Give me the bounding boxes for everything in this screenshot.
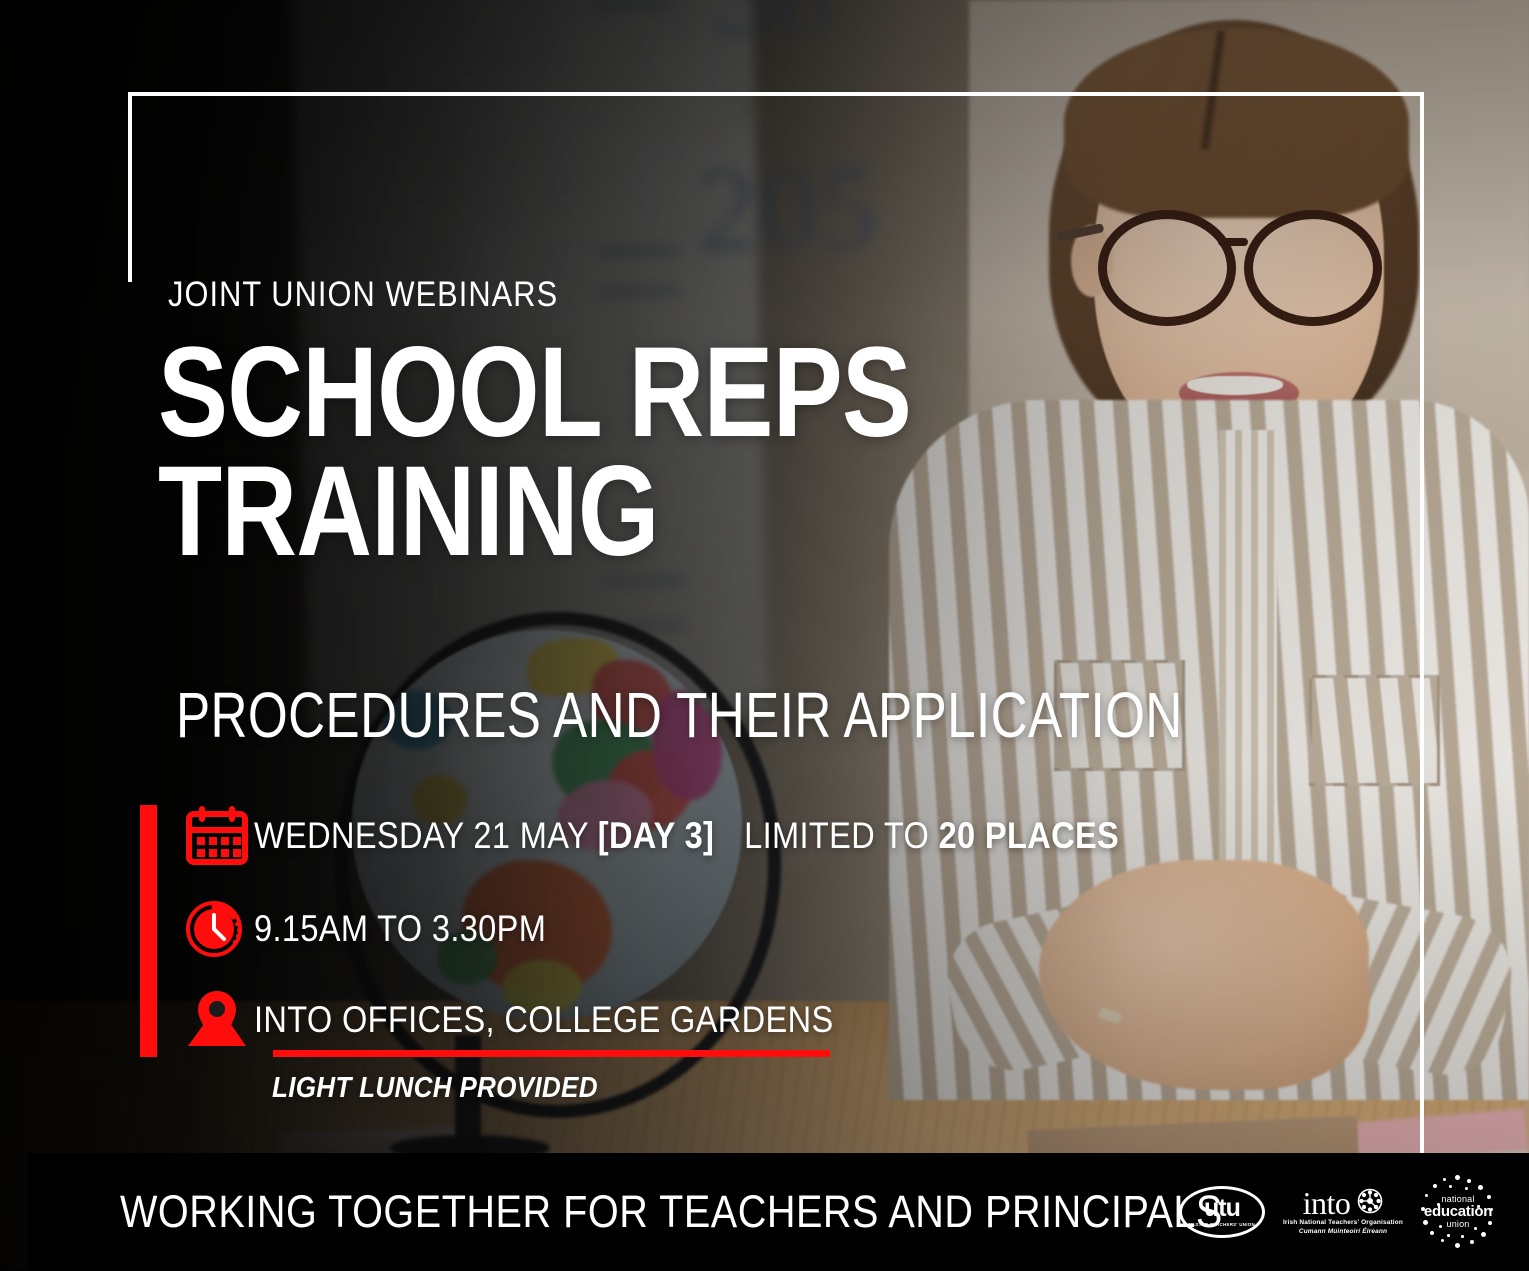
into-subtitle-irish: Cumann Múinteoirí Éireann [1299, 1228, 1387, 1237]
poster-canvas: 38 × 205 [0, 0, 1529, 1271]
calendar-icon [180, 806, 254, 866]
location-text: INTO OFFICES, COLLEGE GARDENS [254, 999, 834, 1041]
lunch-note: LIGHT LUNCH PROVIDED [272, 1072, 598, 1105]
utu-logo: utu ULSTER TEACHERS' UNION [1179, 1186, 1265, 1238]
day-badge: [DAY 3] [598, 815, 714, 856]
clock-icon [180, 898, 254, 960]
page-title: SCHOOL REPS TRAINING [158, 333, 911, 571]
dot-burst-icon [1421, 1175, 1495, 1249]
headline-line-2: TRAINING [158, 452, 911, 571]
into-subtitle-english: Irish National Teachers' Organisation [1283, 1219, 1403, 1228]
capacity-prefix: LIMITED TO [744, 815, 938, 856]
partner-logos: utu ULSTER TEACHERS' UNION into [1179, 1175, 1495, 1249]
time-text: 9.15AM TO 3.30PM [254, 908, 546, 950]
location-underline [273, 1050, 830, 1057]
poster-content: JOINT UNION WEBINARS SCHOOL REPS TRAININ… [0, 0, 1529, 1271]
headline-line-1: SCHOOL REPS [158, 333, 911, 452]
capacity-value: 20 PLACES [939, 815, 1120, 856]
utu-subtitle: ULSTER TEACHERS' UNION [1189, 1222, 1255, 1227]
detail-row-location: INTO OFFICES, COLLEGE GARDENS [180, 990, 913, 1050]
date-text-group: WEDNESDAY 21 MAY [DAY 3]LIMITED TO 20 PL… [254, 815, 1119, 857]
into-wordmark: into [1303, 1187, 1351, 1219]
subtitle: PROCEDURES AND THEIR APPLICATION [176, 678, 1183, 752]
detail-row-date: WEDNESDAY 21 MAY [DAY 3]LIMITED TO 20 PL… [180, 806, 1237, 866]
footer-tagline: WORKING TOGETHER FOR TEACHERS AND PRINCI… [120, 1186, 1223, 1238]
detail-row-time: 9.15AM TO 3.30PM [180, 898, 586, 960]
into-logo: into [1283, 1187, 1403, 1237]
pinwheel-icon [1357, 1188, 1383, 1219]
map-pin-icon [180, 990, 254, 1050]
national-education-union-logo: national education union [1421, 1175, 1495, 1249]
into-top-row: into [1303, 1187, 1384, 1219]
red-accent-bar [140, 805, 157, 1057]
eyebrow-text: JOINT UNION WEBINARS [168, 275, 558, 315]
date-text: WEDNESDAY 21 MAY [254, 815, 598, 856]
utu-wordmark: utu [1204, 1197, 1240, 1220]
footer-bar: WORKING TOGETHER FOR TEACHERS AND PRINCI… [28, 1153, 1529, 1271]
